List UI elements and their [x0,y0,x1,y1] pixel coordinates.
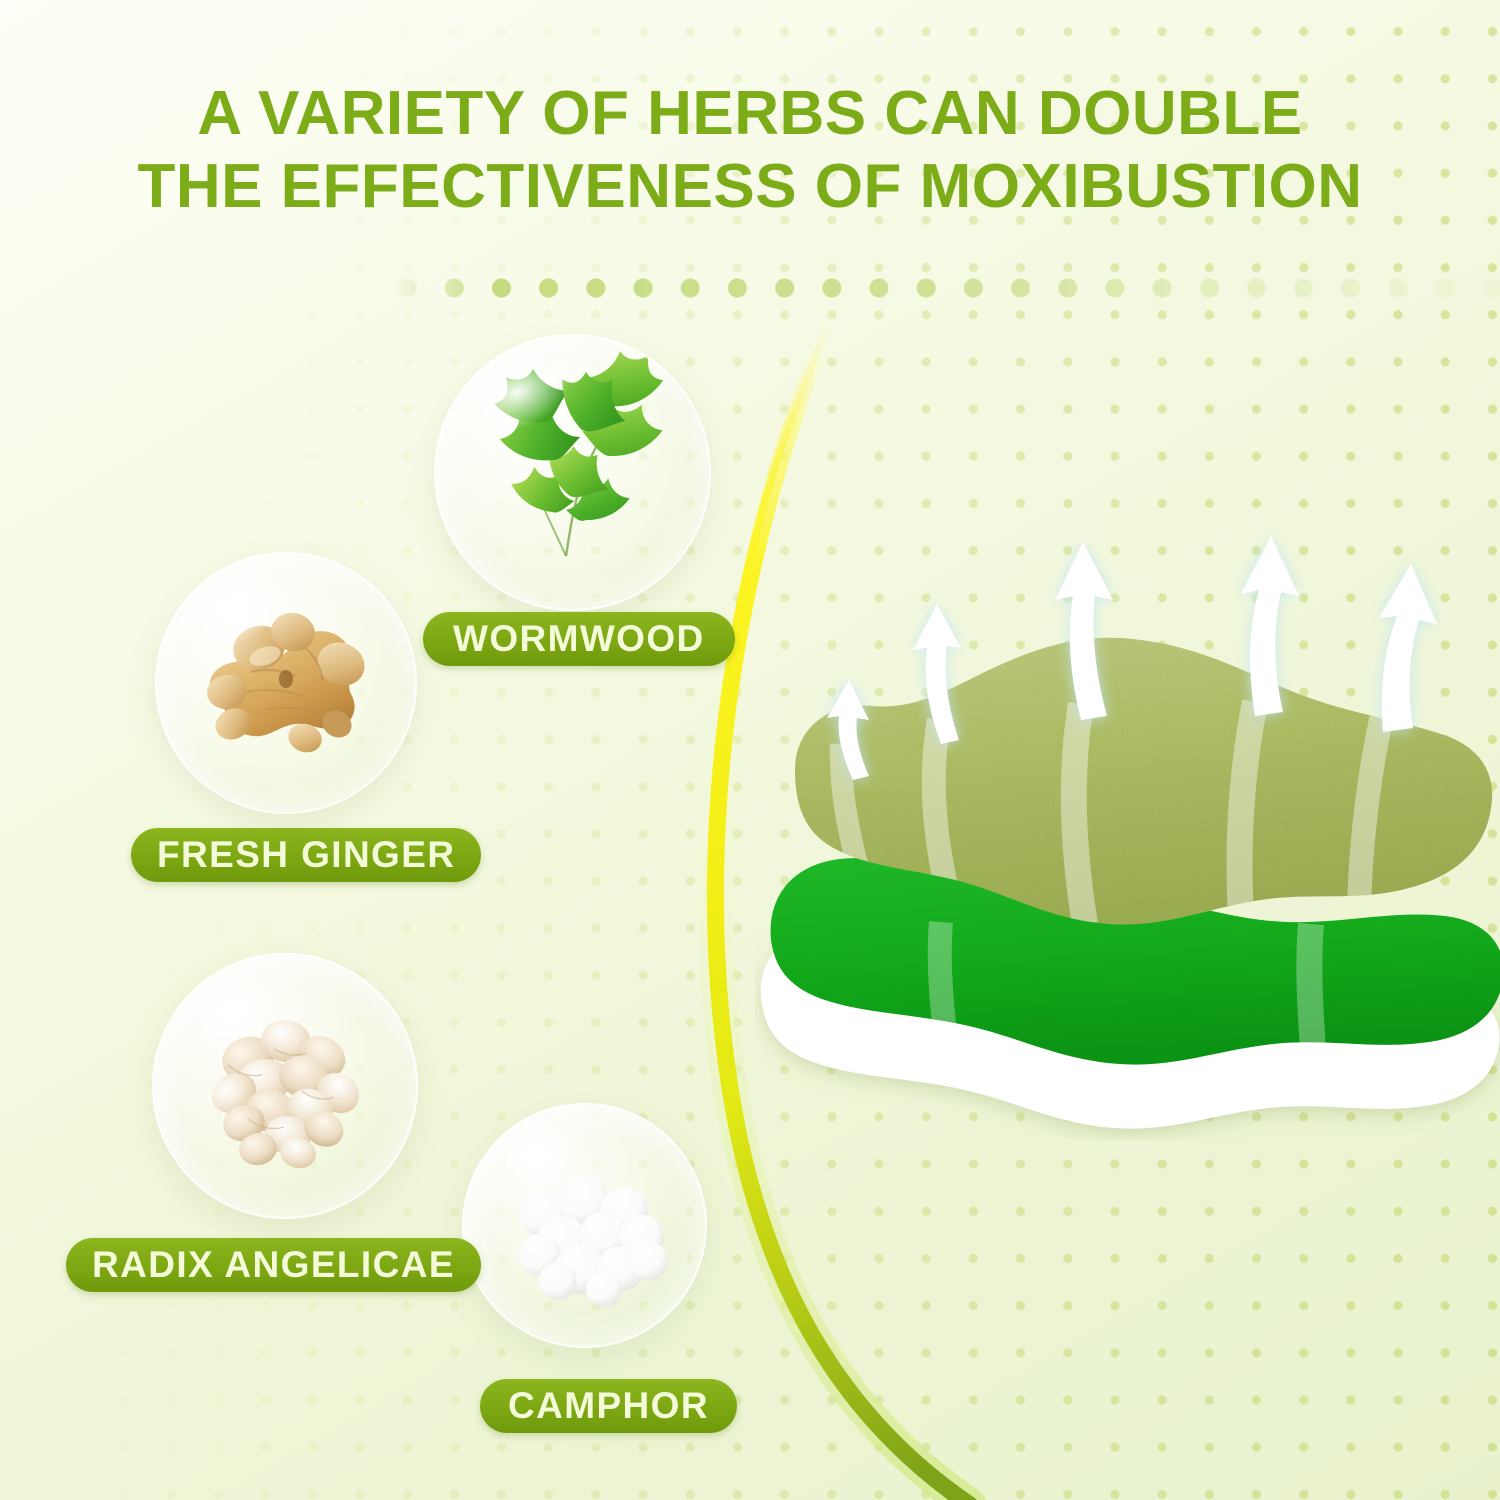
heat-arrow-5 [1379,564,1437,732]
label-text: RADIX ANGELICAE [92,1244,455,1286]
bubble-rim [155,552,417,814]
label-text: WORMWOOD [453,618,705,660]
label-text: CAMPHOR [508,1385,709,1427]
ingredient-label-radix-angelicae[interactable]: RADIX ANGELICAE [66,1238,481,1292]
headline-line-1: A VARIETY OF HERBS CAN DOUBLE [197,79,1302,148]
ingredient-label-fresh-ginger[interactable]: FRESH GINGER [131,828,481,882]
background-dot-accent-row [0,268,1500,308]
infographic-canvas: A VARIETY OF HERBS CAN DOUBLE THE EFFECT… [0,0,1500,1500]
moxibustion-patch-illustration [755,520,1500,1140]
ingredient-bubble-wormwood[interactable] [434,334,711,611]
label-text: FRESH GINGER [157,834,455,876]
ingredient-label-wormwood[interactable]: WORMWOOD [423,612,735,666]
headline-line-2: THE EFFECTIVENESS OF MOXIBUSTION [0,151,1500,224]
ingredient-bubble-camphor[interactable] [462,1103,707,1348]
bubble-rim [152,953,418,1219]
ingredient-label-camphor[interactable]: CAMPHOR [480,1379,737,1433]
bubble-rim [434,334,711,611]
ingredient-bubble-ginger[interactable] [155,552,417,814]
page-title: A VARIETY OF HERBS CAN DOUBLE THE EFFECT… [0,78,1500,223]
bubble-rim [462,1103,707,1348]
ingredient-bubble-radix[interactable] [152,953,418,1219]
